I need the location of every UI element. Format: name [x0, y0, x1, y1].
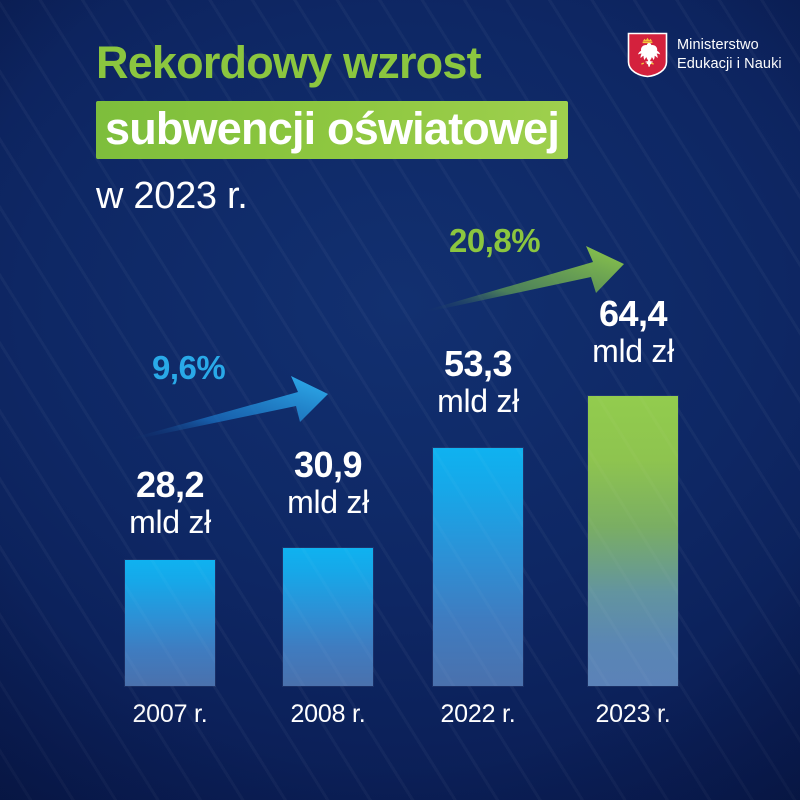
value-unit-2022: mld zł — [403, 385, 553, 419]
growth-arrow-blue-icon — [130, 370, 345, 440]
bar-2008 — [283, 548, 373, 686]
bar-2022 — [433, 448, 523, 686]
value-unit-2007: mld zł — [95, 506, 245, 540]
axis-label-2022: 2022 r. — [403, 700, 553, 729]
value-label-2008: 30,9 mld zł — [253, 446, 403, 520]
bar-2023 — [588, 396, 678, 686]
value-number-2007: 28,2 — [95, 466, 245, 504]
axis-label-2007: 2007 r. — [95, 700, 245, 729]
axis-label-2023: 2023 r. — [558, 700, 708, 729]
value-label-2022: 53,3 mld zł — [403, 345, 553, 419]
value-number-2008: 30,9 — [253, 446, 403, 484]
bar-2007 — [125, 560, 215, 686]
value-number-2022: 53,3 — [403, 345, 553, 383]
value-unit-2008: mld zł — [253, 486, 403, 520]
bar-chart: 28,2 mld zł 30,9 mld zł 53,3 mld zł 64,4… — [0, 0, 800, 800]
infographic-canvas: Ministerstwo Edukacji i Nauki Rekordowy … — [0, 0, 800, 800]
axis-label-2008: 2008 r. — [253, 700, 403, 729]
value-label-2007: 28,2 mld zł — [95, 466, 245, 540]
value-unit-2023: mld zł — [558, 335, 708, 369]
growth-arrow-green-icon — [425, 240, 640, 312]
